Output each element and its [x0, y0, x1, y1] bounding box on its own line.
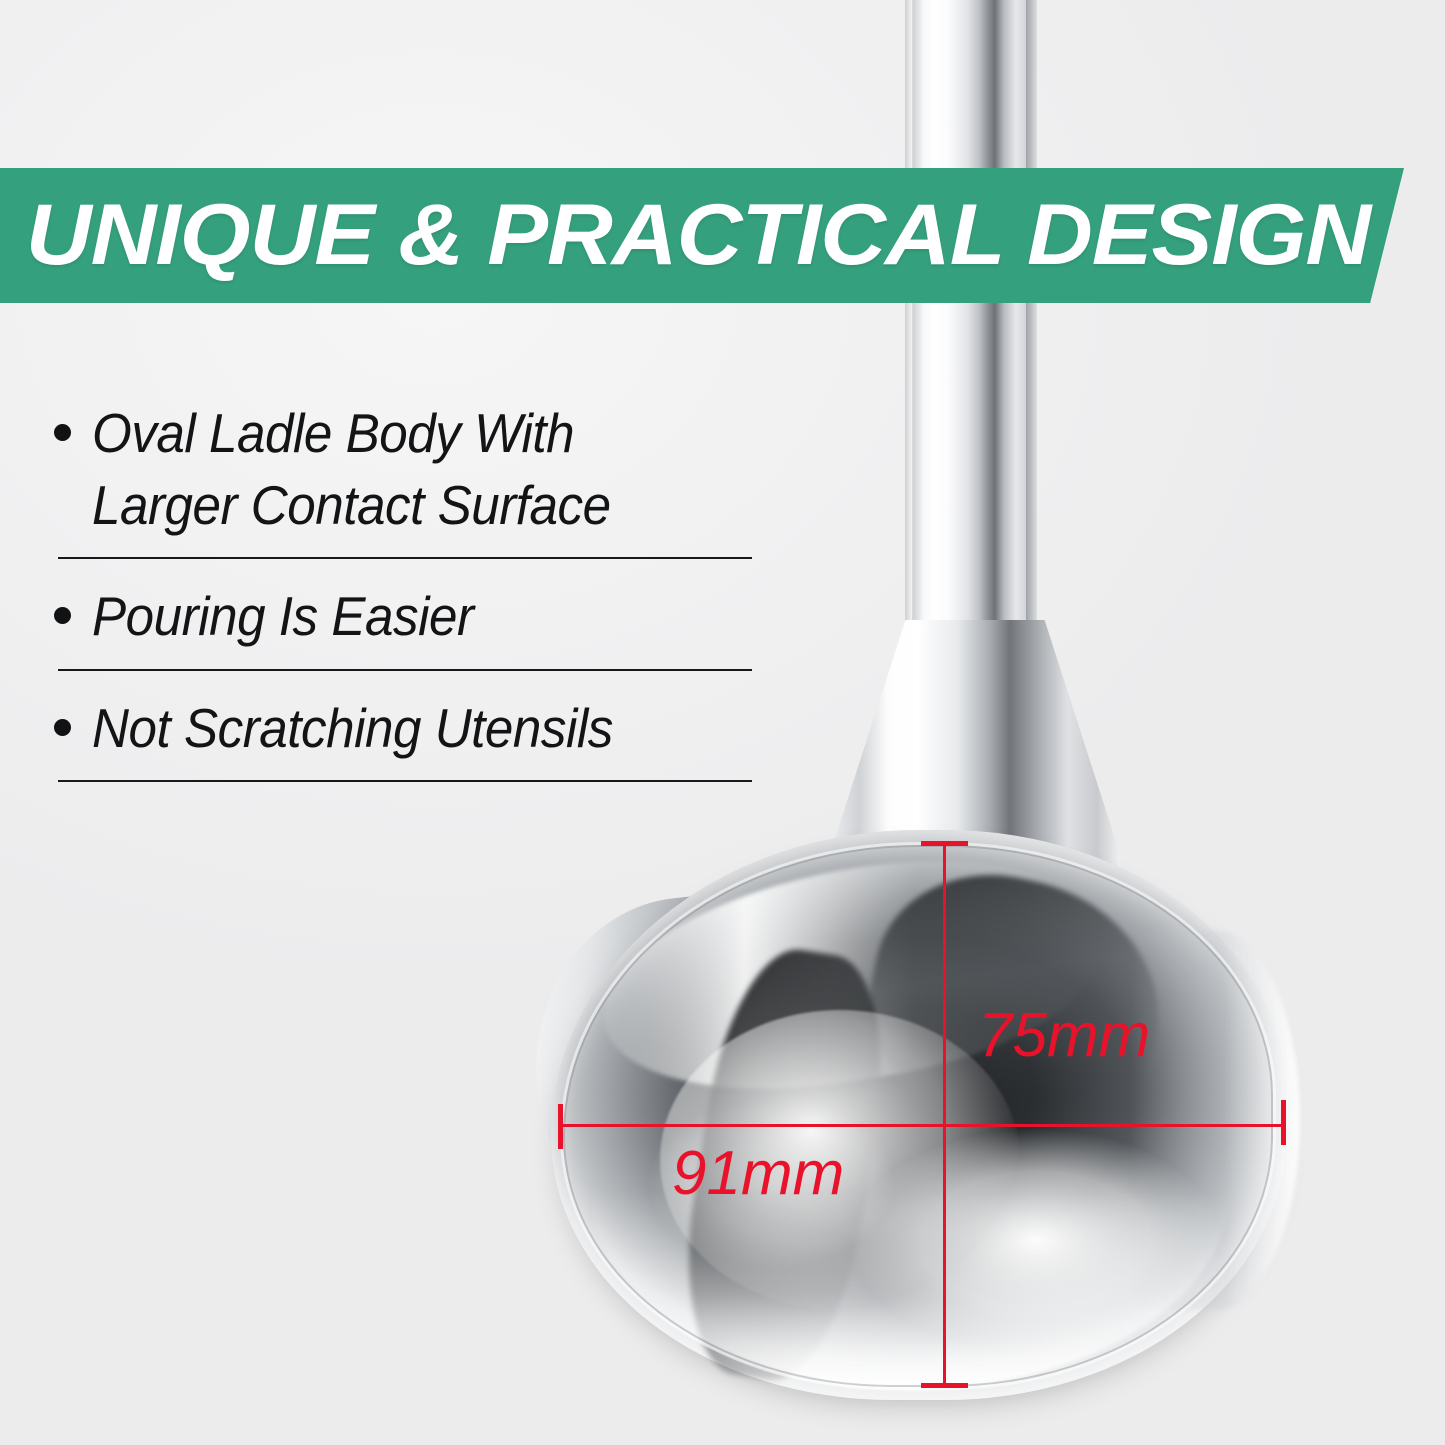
feature-item-3: Not Scratching Utensils — [46, 693, 758, 765]
height-dimension-cap-bottom — [921, 1383, 968, 1388]
height-dimension-cap-top — [921, 841, 968, 846]
height-dimension-label: 75mm — [978, 1000, 1150, 1071]
feature-list: Oval Ladle Body With Larger Contact Surf… — [46, 398, 758, 804]
feature-divider-3 — [58, 780, 752, 782]
headline-banner: UNIQUE & PRACTICAL DESIGN — [0, 168, 1404, 303]
feature-divider-1 — [58, 557, 752, 559]
headline-title: UNIQUE & PRACTICAL DESIGN — [0, 186, 1370, 285]
width-dimension-cap-right — [1281, 1100, 1286, 1145]
bullet-point-icon — [54, 719, 71, 736]
feature-label-2: Pouring Is Easier — [92, 581, 711, 653]
bullet-point-icon — [54, 607, 71, 624]
width-dimension-line — [560, 1124, 1285, 1127]
width-dimension-cap-left — [558, 1104, 563, 1149]
feature-item-1: Oval Ladle Body With Larger Contact Surf… — [46, 398, 758, 541]
feature-label-1: Oval Ladle Body With Larger Contact Surf… — [92, 398, 711, 541]
feature-label-3: Not Scratching Utensils — [92, 693, 711, 765]
bullet-point-icon — [54, 424, 71, 441]
feature-item-2: Pouring Is Easier — [46, 581, 758, 653]
product-infographic: UNIQUE & PRACTICAL DESIGN Oval Ladle Bod… — [0, 0, 1445, 1445]
height-dimension-line — [943, 843, 946, 1388]
width-dimension-label: 91mm — [672, 1138, 844, 1209]
feature-divider-2 — [58, 669, 752, 671]
